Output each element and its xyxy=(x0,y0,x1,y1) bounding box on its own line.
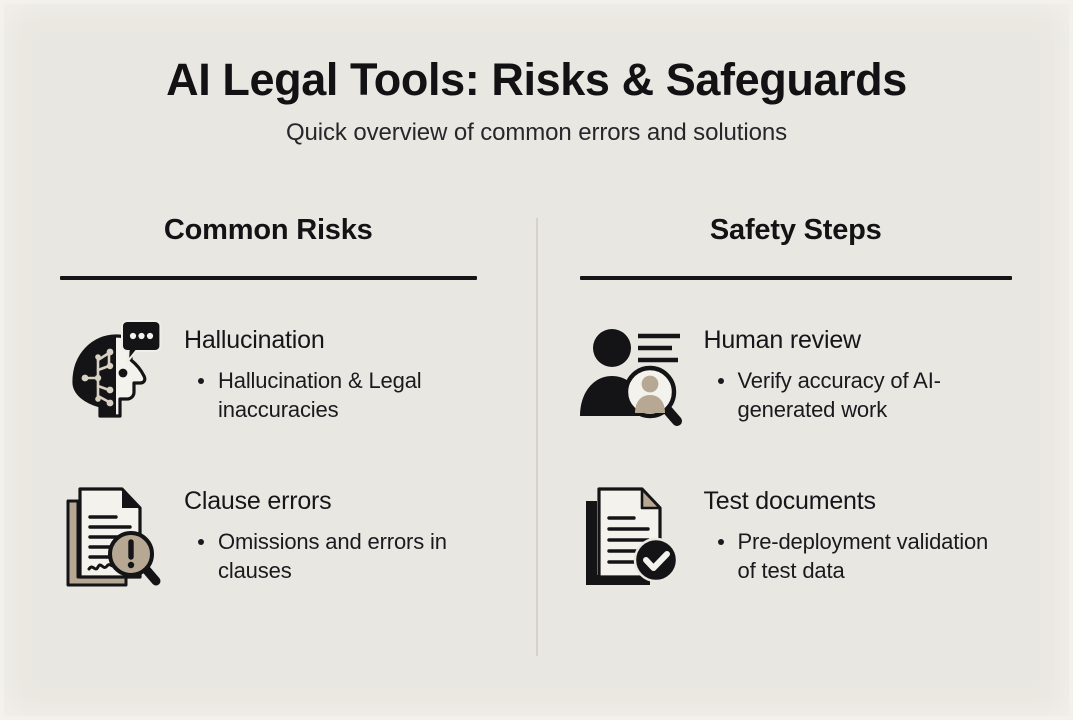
item-title: Clause errors xyxy=(184,487,477,516)
bullet-item: Pre-deployment validation of test data xyxy=(717,527,1013,586)
safety-items-list: Human review Verify accuracy of AI-gener… xyxy=(580,320,1013,593)
column-rule-risks xyxy=(60,276,477,280)
risk-items-list: Hallucination Hallucination & Legal inac… xyxy=(60,320,477,593)
column-safety-steps: Safety Steps xyxy=(537,215,1073,665)
document-check-icon xyxy=(580,481,684,593)
list-item: Clause errors Omissions and errors in cl… xyxy=(60,481,477,593)
column-heading-risks: Common Risks xyxy=(60,215,477,247)
column-rule-safety xyxy=(580,276,1013,280)
item-text-block: Hallucination Hallucination & Legal inac… xyxy=(184,320,477,424)
page-title: AI Legal Tools: Risks & Safeguards xyxy=(0,55,1073,105)
item-text-block: Test documents Pre-deployment validation… xyxy=(704,481,1013,585)
item-bullets: Hallucination & Legal inaccuracies xyxy=(184,366,477,425)
columns-container: Common Risks xyxy=(0,215,1073,665)
column-common-risks: Common Risks xyxy=(0,215,537,665)
infographic-poster: AI Legal Tools: Risks & Safeguards Quick… xyxy=(0,0,1073,720)
bullet-item: Omissions and errors in clauses xyxy=(197,527,477,586)
list-item: Hallucination Hallucination & Legal inac… xyxy=(60,320,477,432)
document-magnifier-warning-icon xyxy=(60,481,164,593)
item-text-block: Human review Verify accuracy of AI-gener… xyxy=(704,320,1013,424)
list-item: Test documents Pre-deployment validation… xyxy=(580,481,1013,593)
item-bullets: Pre-deployment validation of test data xyxy=(704,527,1013,586)
column-heading-safety: Safety Steps xyxy=(580,215,1013,247)
page-subtitle: Quick overview of common errors and solu… xyxy=(0,119,1073,147)
bullet-item: Hallucination & Legal inaccuracies xyxy=(197,366,477,425)
item-title: Test documents xyxy=(704,487,1013,516)
poster-header: AI Legal Tools: Risks & Safeguards Quick… xyxy=(0,55,1073,147)
list-item: Human review Verify accuracy of AI-gener… xyxy=(580,320,1013,432)
bullet-item: Verify accuracy of AI-generated work xyxy=(717,366,1013,425)
item-text-block: Clause errors Omissions and errors in cl… xyxy=(184,481,477,585)
person-magnifier-review-icon xyxy=(580,320,684,432)
item-bullets: Omissions and errors in clauses xyxy=(184,527,477,586)
item-title: Human review xyxy=(704,326,1013,355)
item-bullets: Verify accuracy of AI-generated work xyxy=(704,366,1013,425)
item-title: Hallucination xyxy=(184,326,477,355)
ai-head-speech-bubble-icon xyxy=(60,320,164,432)
